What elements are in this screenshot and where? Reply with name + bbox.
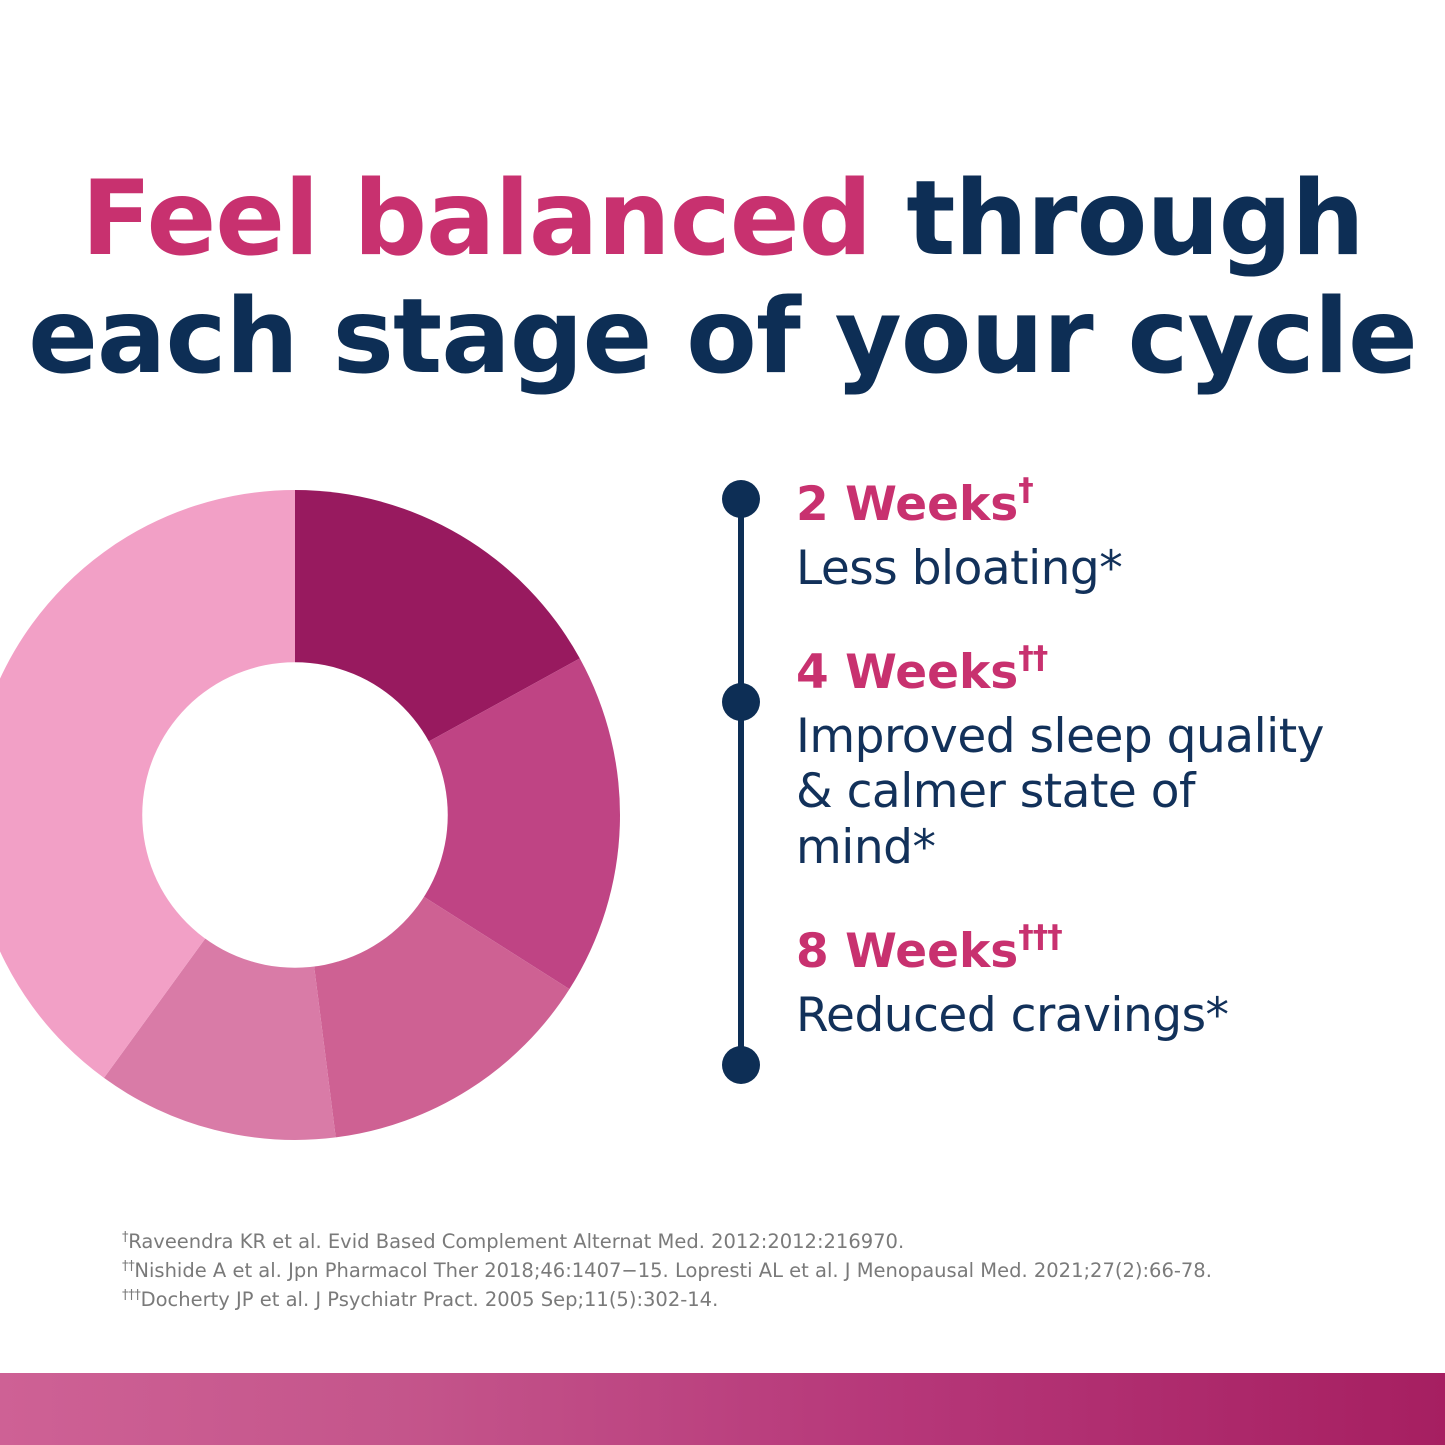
footer-gradient-bar: [0, 1373, 1445, 1445]
footnote-marker-double-dagger: ††: [1018, 640, 1047, 676]
timeline-dot-3: [722, 1046, 760, 1084]
timeline-items: 2 Weeks† Less bloating* 4 Weeks†† Improv…: [796, 474, 1342, 1044]
footnote-line-2: ††Nishide A et al. Jpn Pharmacol Ther 20…: [122, 1257, 1322, 1286]
benefits-timeline: 2 Weeks† Less bloating* 4 Weeks†† Improv…: [722, 480, 1342, 1180]
footnote-text: Raveendra KR et al. Evid Based Complemen…: [128, 1230, 904, 1253]
page-title: Feel balanced through each stage of your…: [0, 160, 1445, 397]
timeline-item-title: 4 Weeks††: [796, 642, 1342, 699]
footnote-marker-triple-dagger: †††: [1018, 919, 1062, 955]
timeline-item-2-weeks: 2 Weeks† Less bloating*: [796, 474, 1342, 596]
timeline-connector-line: [738, 498, 744, 1066]
timeline-item-8-weeks: 8 Weeks††† Reduced cravings*: [796, 921, 1342, 1043]
headline-line-1: Feel balanced through: [0, 160, 1445, 278]
donut-hole: [142, 662, 448, 968]
timeline-item-title-text: 8 Weeks: [796, 924, 1018, 979]
headline-line-2: each stage of your cycle: [0, 278, 1445, 396]
footnote-marker-dagger: †: [1018, 472, 1033, 508]
timeline-item-title-text: 4 Weeks: [796, 645, 1018, 700]
footnote-marker-triple-dagger: †††: [122, 1288, 141, 1303]
timeline-dot-2: [722, 683, 760, 721]
footnote-text: Nishide A et al. Jpn Pharmacol Ther 2018…: [134, 1259, 1212, 1282]
timeline-item-description: Improved sleep quality & calmer state of…: [796, 709, 1342, 875]
timeline-item-4-weeks: 4 Weeks†† Improved sleep quality & calme…: [796, 642, 1342, 875]
headline-accent-text: Feel balanced: [81, 159, 871, 279]
footnote-line-3: †††Docherty JP et al. J Psychiatr Pract.…: [122, 1286, 1322, 1315]
timeline-item-description: Reduced cravings*: [796, 988, 1342, 1043]
timeline-item-title: 2 Weeks†: [796, 474, 1342, 531]
donut-svg: [0, 470, 640, 1160]
footnotes-block: †Raveendra KR et al. Evid Based Compleme…: [122, 1228, 1322, 1315]
donut-segments: [0, 490, 620, 1140]
footnote-line-1: †Raveendra KR et al. Evid Based Compleme…: [122, 1228, 1322, 1257]
timeline-item-title: 8 Weeks†††: [796, 921, 1342, 978]
timeline-dot-1: [722, 480, 760, 518]
footnote-text: Docherty JP et al. J Psychiatr Pract. 20…: [141, 1288, 719, 1311]
timeline-item-title-text: 2 Weeks: [796, 477, 1018, 532]
timeline-item-description: Less bloating*: [796, 541, 1342, 596]
footnote-marker-double-dagger: ††: [122, 1259, 134, 1274]
headline-line-1-rest: through: [871, 159, 1363, 279]
poster-canvas: Feel balanced through each stage of your…: [0, 0, 1445, 1445]
cycle-donut-chart: [0, 470, 640, 1160]
